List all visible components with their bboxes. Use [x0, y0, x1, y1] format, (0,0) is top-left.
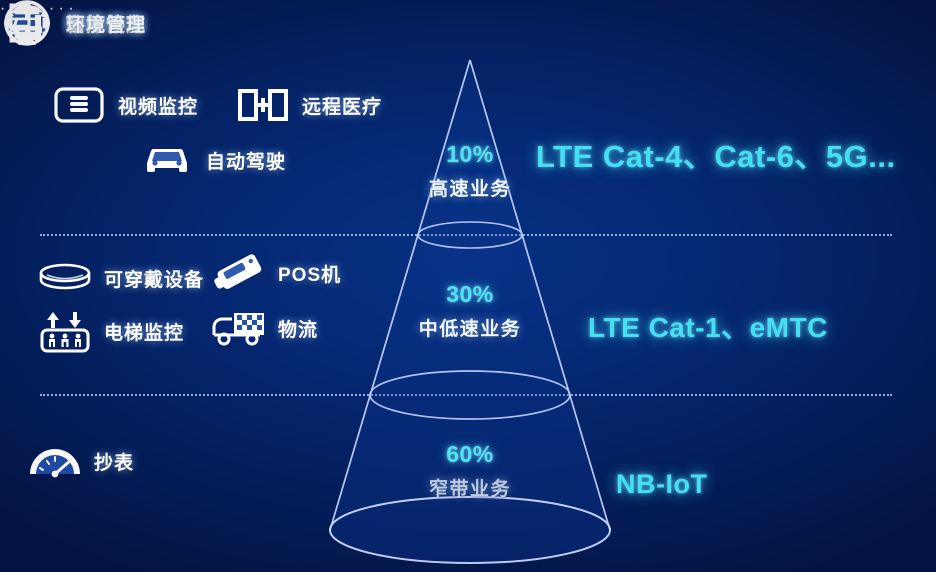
application-item-wearables: 可穿戴设备	[38, 255, 204, 301]
traffic-camera-icon	[52, 82, 106, 128]
infographic-canvas: 10% 高速业务 30% 中低速业务 60% 窄带业务 LTE Cat-4、Ca…	[0, 0, 936, 572]
building-icon	[0, 0, 54, 46]
application-item-autonomous-driving: 自动驾驶	[140, 137, 286, 183]
telemedicine-icon	[236, 82, 290, 128]
cone-tier-label-narrowband: 60% 窄带业务	[350, 441, 590, 501]
application-label: 物流	[278, 315, 318, 342]
cone-tier-name: 中低速业务	[350, 314, 590, 341]
application-label: 远程医疗	[302, 92, 382, 119]
tech-label-narrowband: NB-IoT	[616, 469, 707, 500]
cone-tier-label-mid-low-speed: 30% 中低速业务	[350, 281, 590, 341]
application-item-environment-management: 环境管理	[0, 0, 146, 46]
application-label: 电梯监控	[104, 318, 184, 345]
wearable-band-icon	[38, 255, 92, 301]
gauge-meter-icon	[28, 438, 82, 484]
application-label: 视频监控	[118, 92, 198, 119]
application-item-logistics: 物流	[212, 305, 318, 351]
tech-label-mid-low-speed: LTE Cat-1、eMTC	[588, 306, 828, 346]
cone-tier-percent: 30%	[350, 281, 590, 307]
cone-tier-percent: 60%	[350, 441, 590, 467]
application-label: 自动驾驶	[206, 147, 286, 174]
elevator-icon	[38, 308, 92, 354]
cone-tier-name: 窄带业务	[350, 474, 590, 501]
application-label: 环境管理	[66, 10, 146, 37]
car-icon	[140, 137, 194, 183]
application-label: 抄表	[94, 448, 134, 475]
application-label: 可穿戴设备	[104, 265, 204, 292]
delivery-truck-icon	[212, 305, 266, 351]
application-item-video-surveillance: 视频监控	[52, 82, 198, 128]
application-item-elevator-monitoring: 电梯监控	[38, 308, 184, 354]
application-item-telemedicine: 远程医疗	[236, 82, 382, 128]
application-label: POS机	[278, 260, 341, 287]
pos-terminal-icon	[212, 250, 266, 296]
application-item-pos-machine: POS机	[212, 250, 341, 296]
application-item-meter-reading: 抄表	[28, 438, 134, 484]
cone-tier-label-high-speed: 10% 高速业务	[350, 141, 590, 201]
cone-tier-name: 高速业务	[350, 174, 590, 201]
cone-tier-percent: 10%	[350, 141, 590, 167]
